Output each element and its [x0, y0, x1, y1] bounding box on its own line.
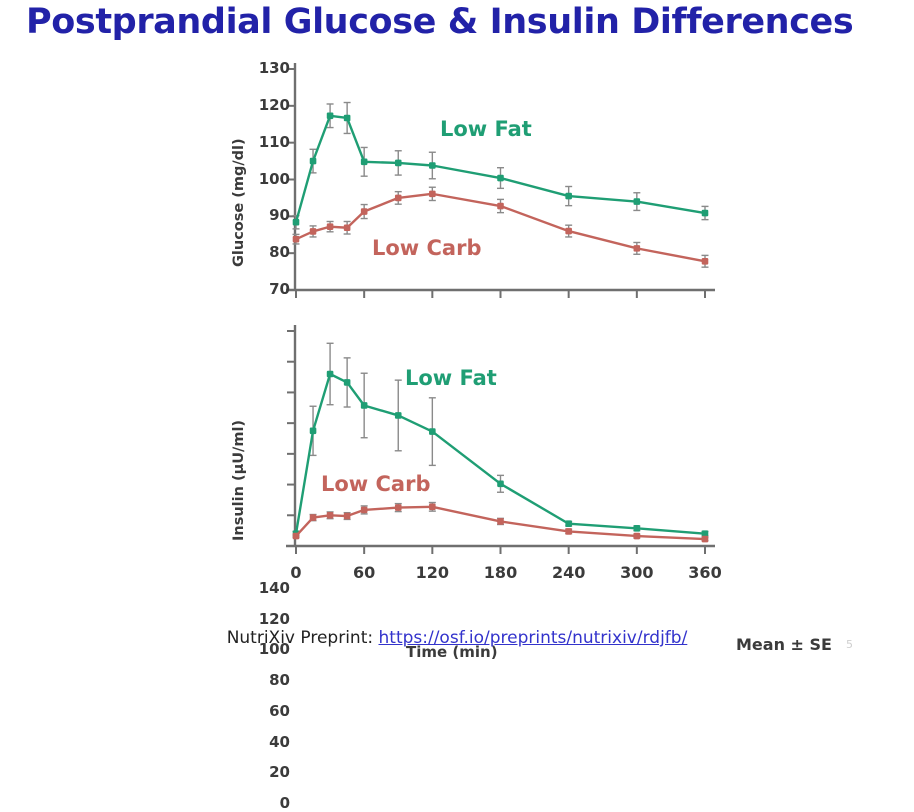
insulin-marker	[310, 514, 317, 521]
insulin-marker	[361, 507, 368, 514]
glucose-y-tick: 90	[248, 208, 290, 223]
glucose-y-tick: 70	[248, 282, 290, 297]
page-title: Postprandial Glucose & Insulin Differenc…	[26, 2, 896, 42]
insulin-marker	[565, 528, 572, 535]
glucose-y-tick: 120	[248, 98, 290, 113]
x-tick: 180	[484, 565, 517, 581]
glucose-legend-low-fat: Low Fat	[440, 117, 532, 141]
glucose-marker	[395, 195, 402, 202]
footer: NutriXiv Preprint: https://osf.io/prepri…	[0, 628, 914, 648]
insulin-marker	[634, 533, 641, 540]
x-tick: 120	[416, 565, 449, 581]
slide-page-number: 5	[846, 638, 853, 651]
glucose-plot-area	[0, 55, 914, 305]
insulin-marker	[327, 512, 334, 519]
glucose-marker	[310, 228, 317, 235]
glucose-marker	[565, 228, 572, 235]
insulin-y-tick: 140	[248, 581, 290, 596]
insulin-y-axis-label: Insulin (µU/ml)	[231, 420, 247, 541]
glucose-marker	[429, 162, 436, 169]
glucose-marker	[361, 208, 368, 215]
glucose-marker	[634, 198, 641, 205]
insulin-marker	[361, 402, 368, 409]
x-tick: 240	[552, 565, 585, 581]
glucose-marker	[361, 159, 368, 166]
insulin-legend-low-carb: Low Carb	[321, 472, 431, 496]
x-tick: 300	[620, 565, 653, 581]
glucose-y-tick: 130	[248, 61, 290, 76]
glucose-marker	[565, 193, 572, 200]
insulin-marker	[634, 525, 641, 532]
insulin-marker	[344, 379, 351, 386]
insulin-y-tick: 0	[248, 796, 290, 811]
insulin-marker	[293, 533, 300, 540]
insulin-marker	[310, 428, 317, 435]
glucose-y-axis-label: Glucose (mg/dl)	[231, 138, 247, 267]
glucose-marker	[429, 191, 436, 198]
glucose-marker	[310, 158, 317, 165]
glucose-marker	[395, 160, 402, 167]
insulin-marker	[565, 520, 572, 527]
insulin-line-low-fat	[296, 374, 705, 534]
glucose-legend-low-carb: Low Carb	[372, 236, 482, 260]
insulin-marker	[395, 504, 402, 511]
insulin-marker	[497, 518, 504, 525]
glucose-y-tick: 100	[248, 172, 290, 187]
insulin-y-tick: 60	[248, 704, 290, 719]
figure-container: Glucose (mg/dl) 130120110100908070 Insul…	[0, 55, 914, 615]
insulin-y-tick: 120	[248, 612, 290, 627]
preprint-link[interactable]: https://osf.io/preprints/nutrixiv/rdjfb/	[379, 628, 688, 648]
glucose-marker	[293, 236, 300, 243]
insulin-y-tick: 20	[248, 765, 290, 780]
insulin-marker	[327, 371, 334, 378]
glucose-marker	[344, 224, 351, 231]
glucose-marker	[497, 175, 504, 182]
glucose-marker	[344, 115, 351, 122]
glucose-y-tick: 80	[248, 245, 290, 260]
glucose-marker	[702, 210, 709, 217]
insulin-legend-low-fat: Low Fat	[405, 366, 497, 390]
insulin-marker	[497, 481, 504, 488]
glucose-marker	[497, 203, 504, 210]
footer-prefix: NutriXiv Preprint:	[227, 628, 379, 648]
glucose-y-tick: 110	[248, 135, 290, 150]
insulin-plot-area	[0, 313, 914, 613]
x-tick: 0	[290, 565, 301, 581]
glucose-marker	[327, 223, 334, 230]
glucose-marker	[702, 258, 709, 265]
insulin-y-tick: 40	[248, 735, 290, 750]
insulin-marker	[395, 412, 402, 419]
insulin-marker	[344, 513, 351, 520]
chart-insulin: Insulin (µU/ml) 140120100806040200	[0, 313, 914, 613]
insulin-marker	[429, 504, 436, 511]
x-tick: 360	[688, 565, 721, 581]
insulin-marker	[702, 536, 709, 543]
glucose-marker	[634, 245, 641, 252]
glucose-marker	[293, 219, 300, 226]
x-tick: 60	[353, 565, 375, 581]
chart-glucose: Glucose (mg/dl) 130120110100908070	[0, 55, 914, 305]
glucose-marker	[327, 112, 334, 119]
insulin-marker	[429, 428, 436, 435]
insulin-y-tick: 80	[248, 673, 290, 688]
